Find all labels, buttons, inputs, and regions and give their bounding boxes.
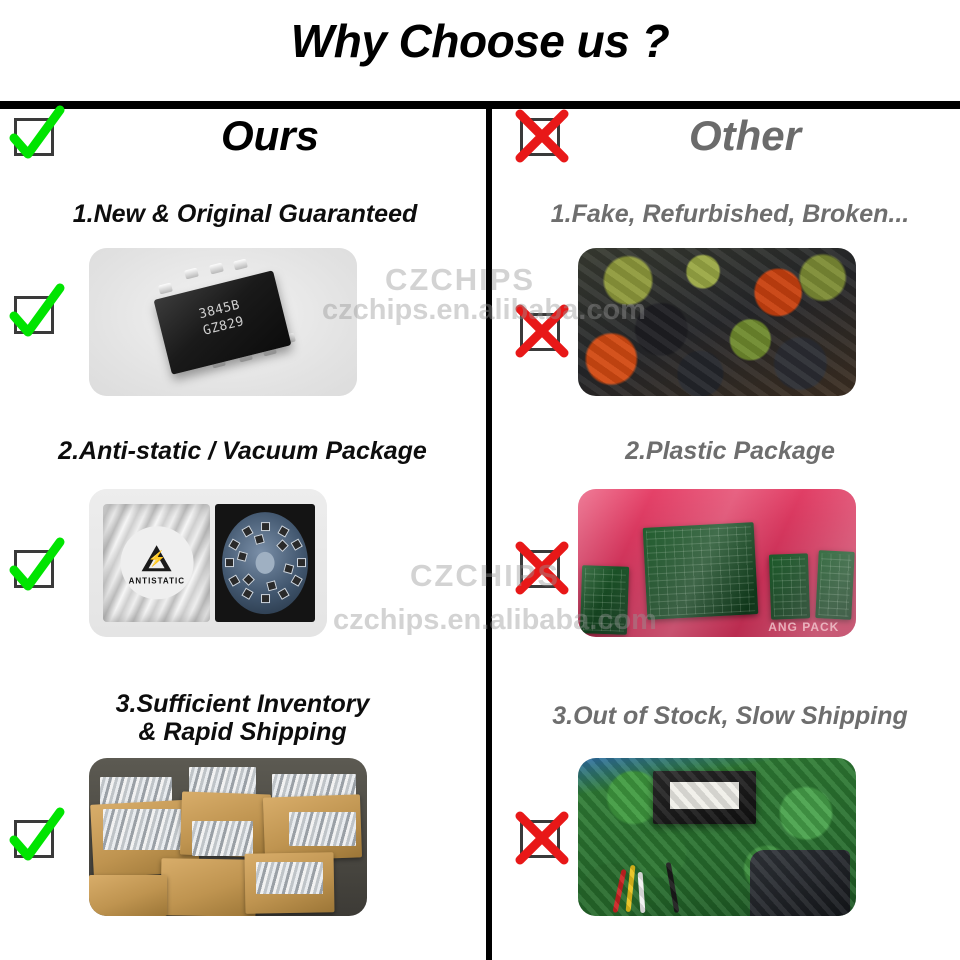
other-bag-label: ANG PACK (768, 620, 839, 634)
photo-other-1 (578, 248, 856, 396)
component-reel (215, 504, 315, 622)
why-choose-us-comparison-graphic: Why Choose us ? Ours Other 1.New & Origi… (0, 0, 960, 960)
feature-label-ours-2: 2.Anti-static / Vacuum Package (5, 437, 480, 465)
antistatic-bag: ⚡ ANTISTATIC (103, 504, 210, 622)
antistatic-label: ANTISTATIC (120, 576, 193, 585)
check-mark-icon (8, 110, 60, 162)
watermark-brand: CZCHIPS (385, 262, 535, 298)
header-divider-horizontal (0, 101, 960, 109)
column-header-other: Other (595, 112, 895, 160)
column-header-ours: Ours (120, 112, 420, 160)
cross-mark-icon (514, 812, 566, 864)
feature-label-other-3: 3.Out of Stock, Slow Shipping (500, 702, 960, 730)
photo-ours-2: ⚡ ANTISTATIC (89, 489, 327, 637)
feature-label-other-1: 1.Fake, Refurbished, Broken... (500, 200, 960, 228)
feature-label-ours-1: 1.New & Original Guaranteed (10, 200, 480, 228)
cross-mark-icon (514, 542, 566, 594)
feature-label-other-2: 2.Plastic Package (500, 437, 960, 465)
cross-glyph (510, 806, 574, 870)
page-title: Why Choose us ? (0, 14, 960, 68)
check-glyph (4, 806, 68, 870)
photo-ours-1: 3845B GZ829 (89, 248, 357, 396)
check-mark-icon (8, 812, 60, 864)
cross-glyph (510, 299, 574, 363)
photo-ours-3 (89, 758, 367, 916)
cross-glyph (510, 536, 574, 600)
check-mark-icon (8, 542, 60, 594)
photo-other-3 (578, 758, 856, 916)
cross-glyph (510, 104, 574, 168)
photo-other-2: ANG PACK (578, 489, 856, 637)
cross-mark-icon (514, 110, 566, 162)
check-glyph (4, 282, 68, 346)
column-divider-vertical (486, 101, 492, 960)
check-mark-icon (8, 288, 60, 340)
black-module (653, 771, 756, 825)
lightning-bolt-icon: ⚡ (147, 551, 166, 566)
cross-mark-icon (514, 305, 566, 357)
check-glyph (4, 104, 68, 168)
feature-label-ours-3: 3.Sufficient Inventory & Rapid Shipping (20, 690, 465, 746)
check-glyph (4, 536, 68, 600)
